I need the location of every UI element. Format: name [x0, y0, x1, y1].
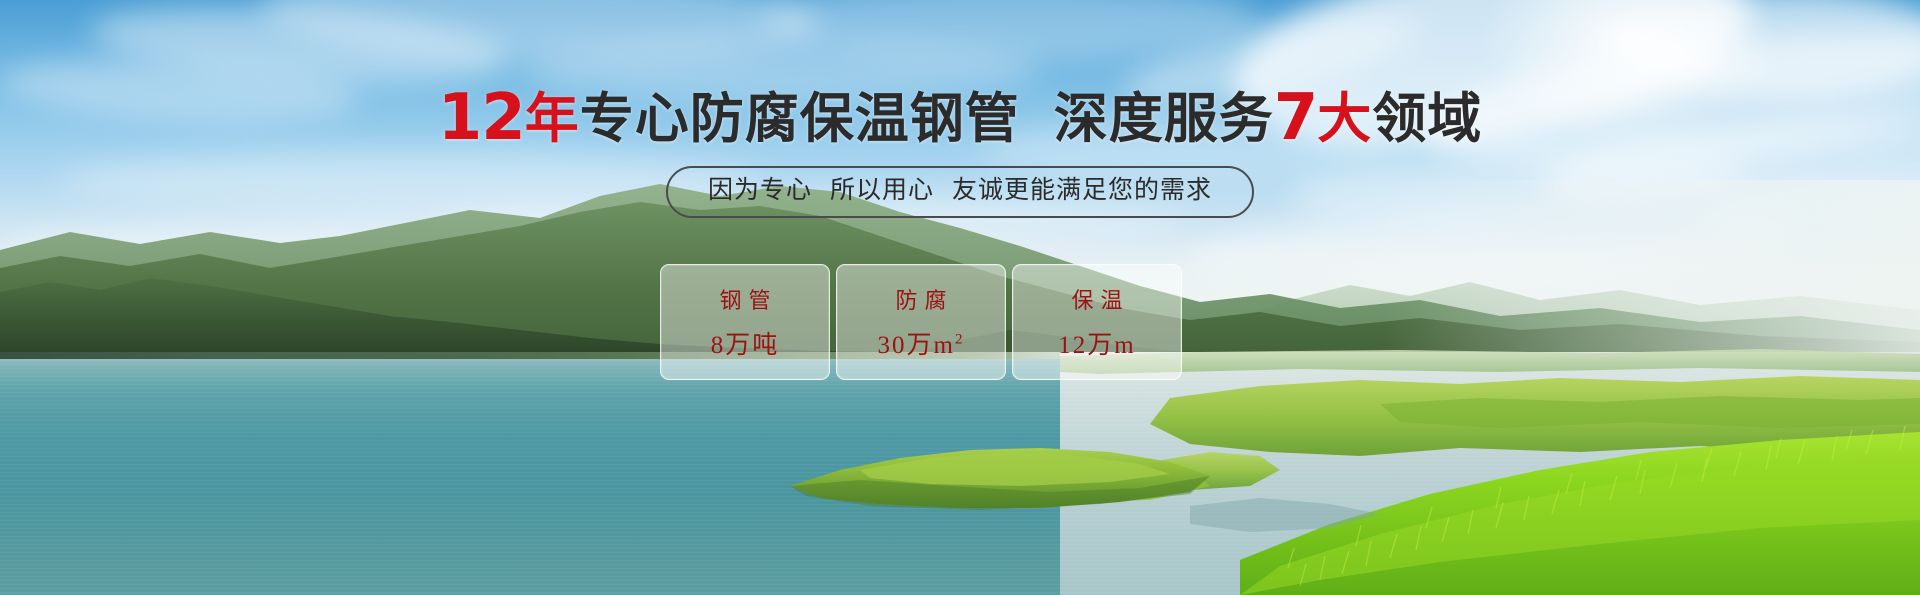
stat-card-title: 防腐 [888, 283, 953, 315]
subtitle-pill: 因为专心所以用心友诚更能满足您的需求 [666, 166, 1254, 218]
headline-main-text: 专心防腐保温钢管 [580, 89, 1020, 149]
stat-card-value: 30万m2 [878, 325, 965, 361]
subtitle-phrase-3: 友诚更能满足您的需求 [952, 176, 1212, 204]
stat-card-steel-pipe[interactable]: 钢管 8万吨 [660, 264, 830, 380]
subtitle-phrase-2: 所以用心 [830, 176, 934, 204]
stat-card-title: 保温 [1064, 283, 1129, 315]
headline-fields-number: 7 [1274, 81, 1318, 155]
subtitle-container: 因为专心所以用心友诚更能满足您的需求 [0, 166, 1920, 218]
subtitle-phrase-1: 因为专心 [708, 176, 812, 204]
headline-fields-unit: 大 [1317, 89, 1372, 149]
stat-card-value: 8万吨 [711, 325, 780, 361]
headline-years-number: 12 [438, 81, 525, 155]
hero-banner: 12年专心防腐保温钢管深度服务7大领域 因为专心所以用心友诚更能满足您的需求 钢… [0, 0, 1920, 595]
headline-years-unit: 年 [525, 89, 580, 149]
headline-service-text: 深度服务 [1054, 89, 1274, 149]
stat-card-value: 12万m [1058, 325, 1135, 361]
headline: 12年专心防腐保温钢管深度服务7大领域 [0, 86, 1920, 150]
stat-cards: 钢管 8万吨 防腐 30万m2 保温 12万m [660, 264, 1182, 380]
stat-card-anticorrosion[interactable]: 防腐 30万m2 [836, 264, 1006, 380]
stat-card-insulation[interactable]: 保温 12万m [1012, 264, 1182, 380]
stat-card-value-superscript: 2 [955, 332, 965, 348]
headline-fields-text: 领域 [1372, 89, 1482, 149]
stat-card-title: 钢管 [712, 283, 777, 315]
